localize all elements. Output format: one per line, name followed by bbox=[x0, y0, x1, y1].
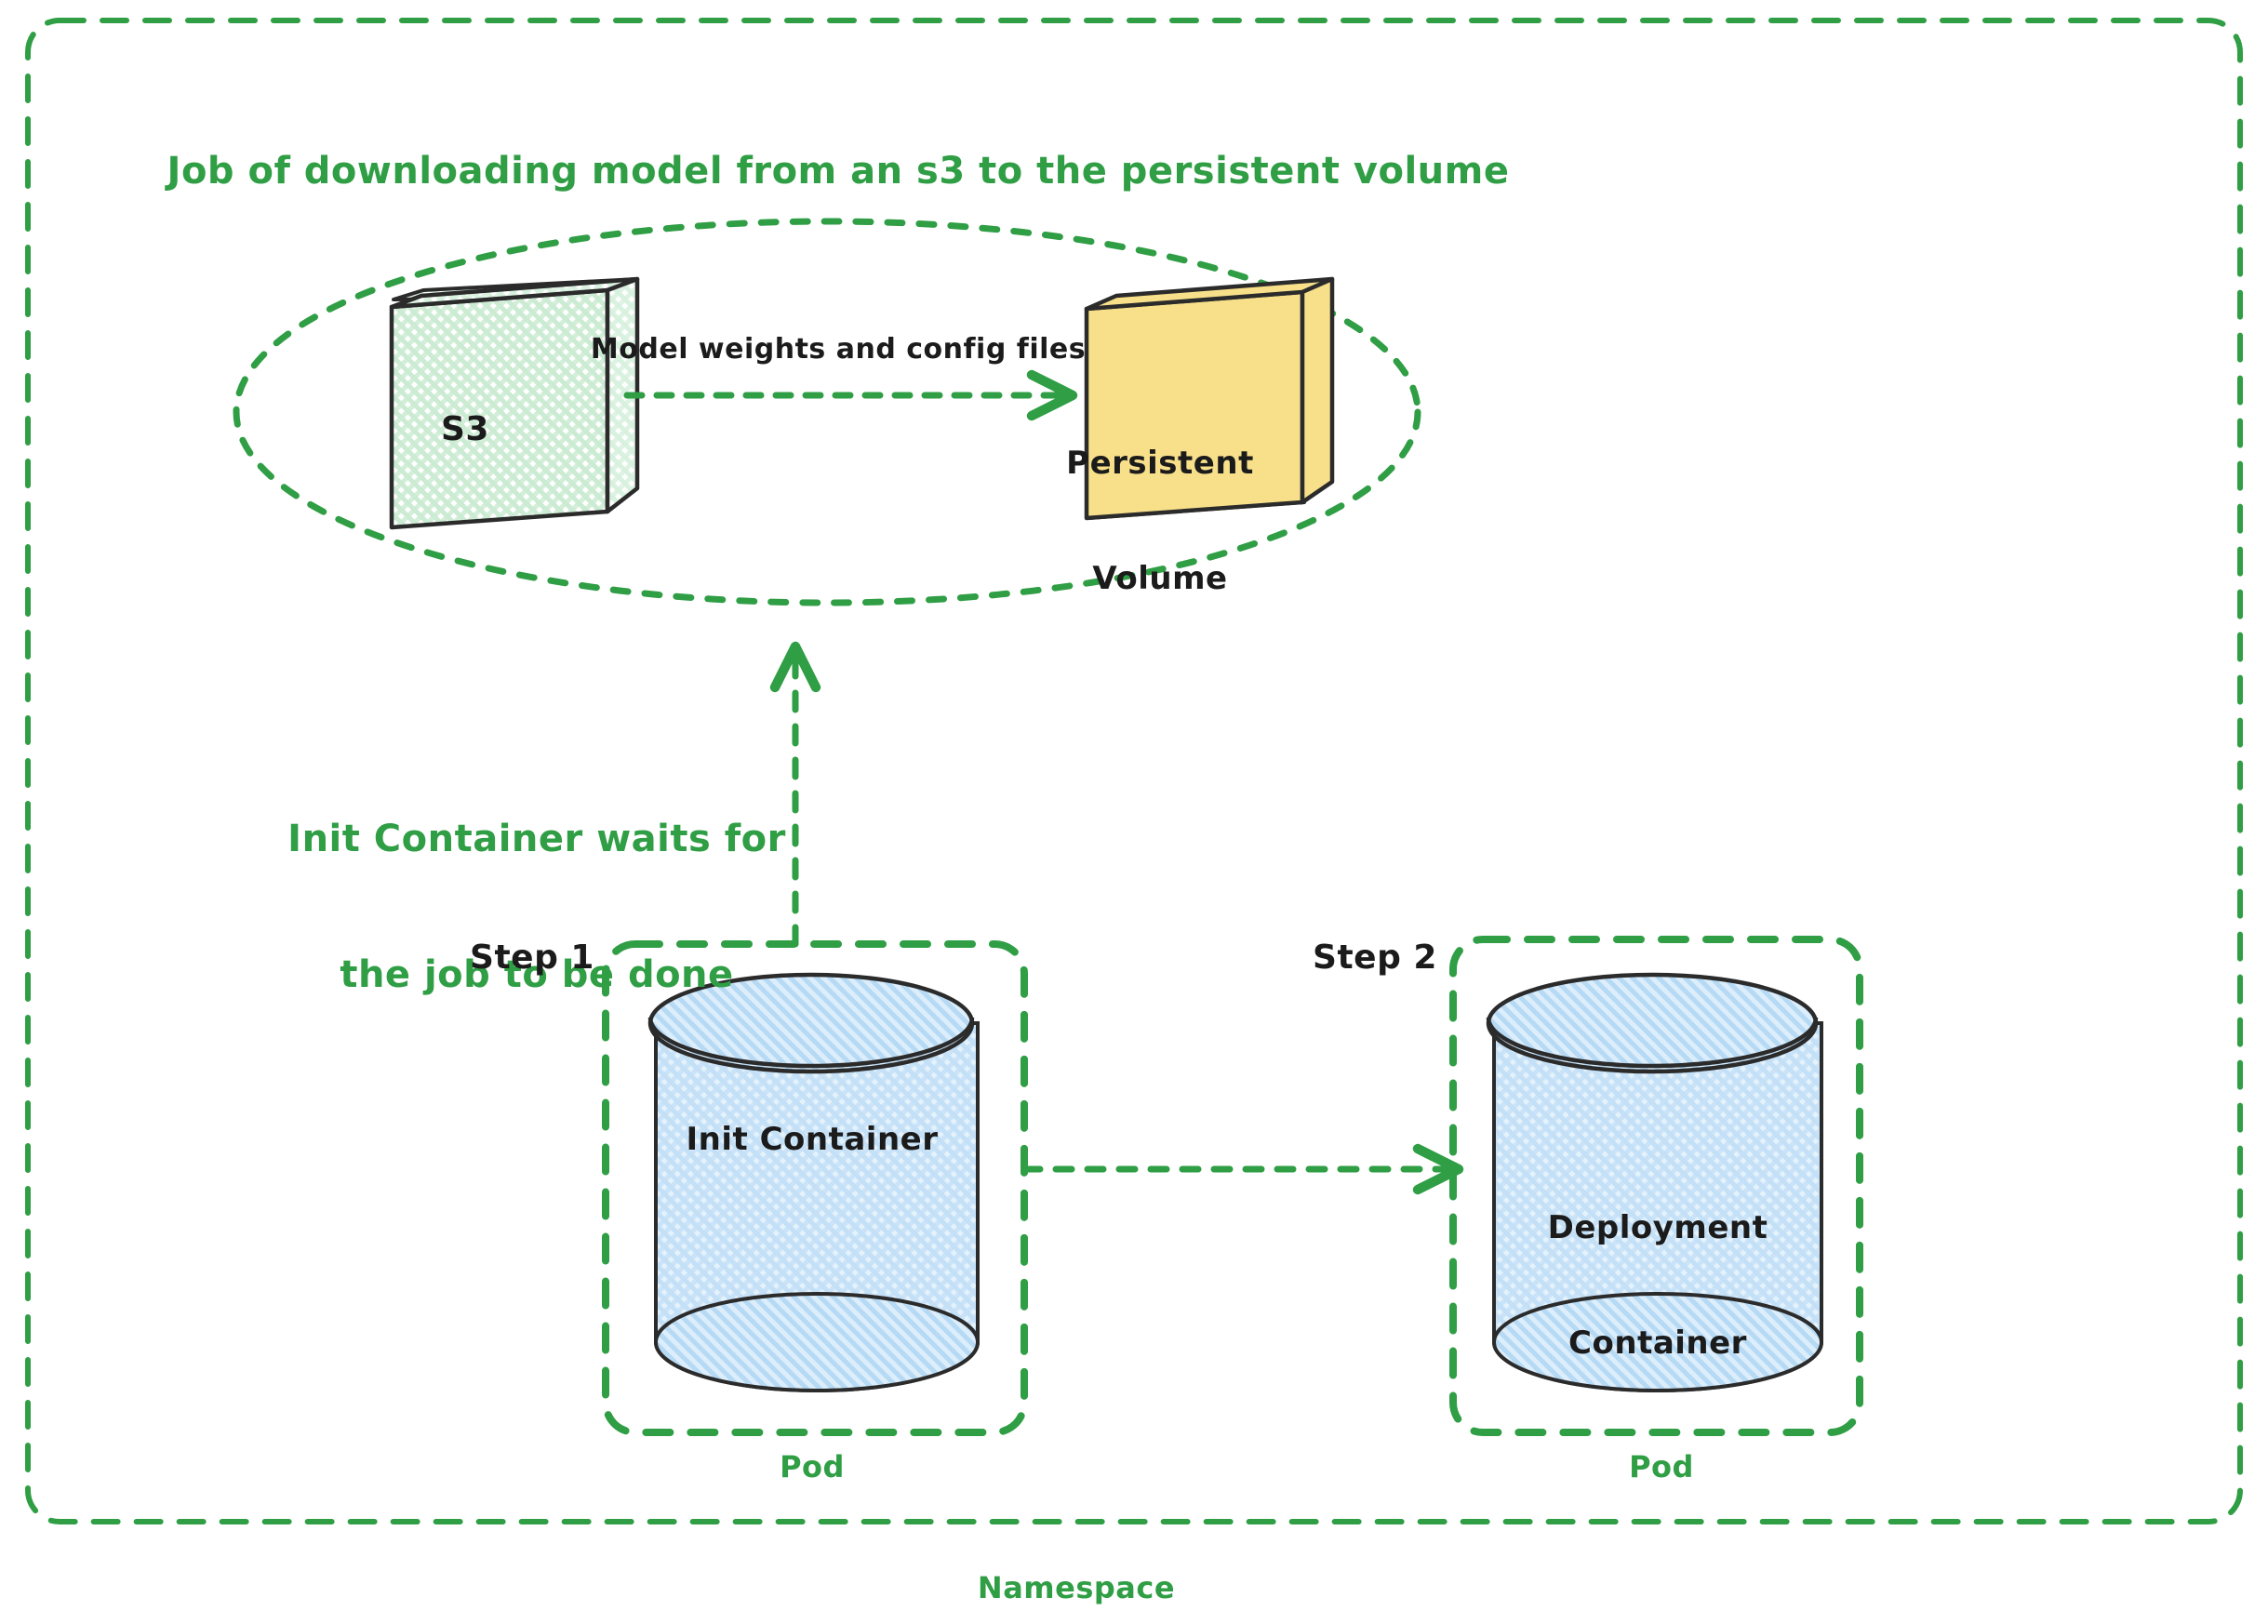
deployment-container-label-line1: Deployment bbox=[1548, 1209, 1768, 1247]
s3-cube-label: S3 bbox=[441, 409, 489, 450]
edge-label-init-waits: Init Container waits for the job to be d… bbox=[287, 725, 786, 1088]
persistent-volume-label-line1: Persistent bbox=[1066, 445, 1254, 483]
diagram-canvas: Job of downloading model from an s3 to t… bbox=[0, 0, 2268, 1624]
step-1-label: Step 1 bbox=[470, 938, 594, 978]
deployment-container-label: Deployment Container bbox=[1548, 1132, 1768, 1441]
pod-2-label: Pod bbox=[1629, 1449, 1694, 1485]
deployment-container-label-line2: Container bbox=[1548, 1324, 1768, 1363]
persistent-volume-label-line2: Volume bbox=[1066, 560, 1254, 598]
init-container-label: Init Container bbox=[687, 1121, 939, 1159]
edge-label-init-waits-line1: Init Container waits for bbox=[287, 817, 786, 862]
job-title: Job of downloading model from an s3 to t… bbox=[167, 149, 1510, 194]
s3-cube bbox=[392, 279, 637, 527]
persistent-volume-label: Persistent Volume bbox=[1066, 367, 1254, 676]
namespace-label: Namespace bbox=[978, 1570, 1175, 1606]
edge-label-model-weights: Model weights and config files bbox=[591, 333, 1086, 367]
pod-1-label: Pod bbox=[780, 1449, 845, 1485]
step-2-label: Step 2 bbox=[1313, 938, 1437, 978]
